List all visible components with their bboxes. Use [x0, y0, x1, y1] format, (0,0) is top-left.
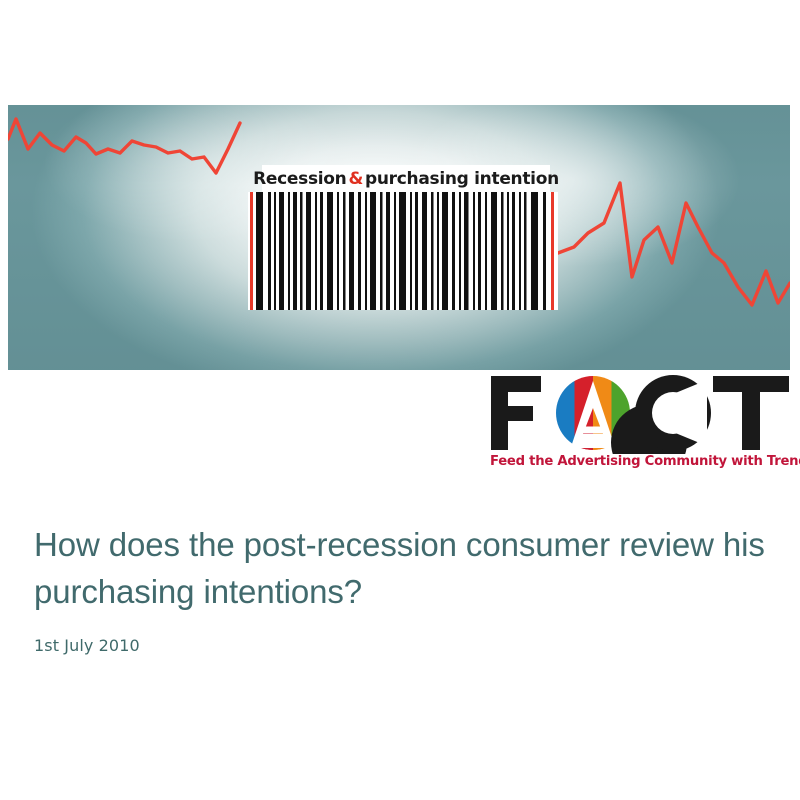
barcode-guard-left: [250, 192, 253, 310]
page-title: How does the post-recession consumer rev…: [34, 522, 770, 616]
title-slide: Recession & purchasing intention: [0, 0, 800, 800]
barcode-label-ampersand: &: [346, 169, 365, 189]
barcode-bars: [248, 192, 558, 310]
barcode-label-suffix: purchasing intention: [365, 169, 559, 189]
title-block: How does the post-recession consumer rev…: [34, 522, 770, 655]
hero-banner-image: Recession & purchasing intention: [8, 105, 790, 370]
fact-logo: Feed the Advertising Community with Tren…: [487, 372, 793, 476]
trendline-right: [558, 183, 790, 305]
barcode-label-prefix: Recession: [253, 169, 346, 189]
trendline-left: [8, 119, 240, 173]
slide-date: 1st July 2010: [34, 616, 770, 655]
logo-letter-c: [611, 375, 711, 454]
logo-letter-f: [491, 376, 541, 450]
fact-wordmark: [487, 372, 793, 454]
logo-letter-t: [713, 376, 789, 450]
barcode-graphic: Recession & purchasing intention: [248, 165, 558, 310]
logo-tagline: Feed the Advertising Community with Tren…: [490, 454, 793, 469]
barcode-guard-right: [551, 192, 554, 310]
barcode-label: Recession & purchasing intention: [262, 165, 550, 192]
